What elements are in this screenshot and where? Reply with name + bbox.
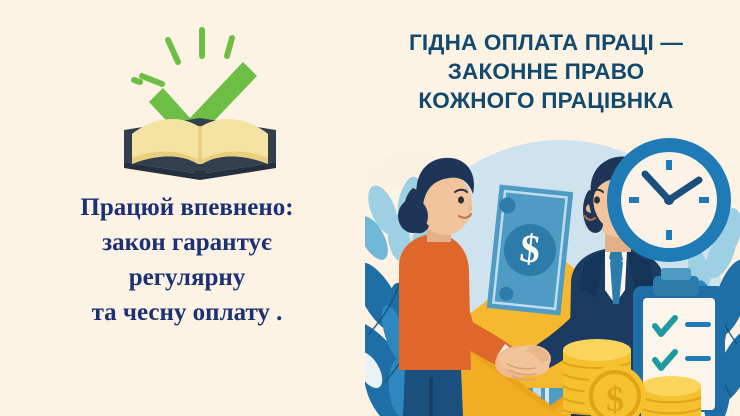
left-panel: Працюй впевнено: закон гарантує регулярн… <box>0 0 360 416</box>
page-title: ГІДНА ОПЛАТА ПРАЦІ — ЗАКОННЕ ПРАВО КОЖНО… <box>360 28 732 115</box>
open-book-with-checkmark-icon <box>110 22 290 187</box>
subtext-line-3: регулярну <box>28 260 346 295</box>
subtext-block: Працюй впевнено: закон гарантує регулярн… <box>28 190 346 330</box>
salary-rights-banner: Працюй впевнено: закон гарантує регулярн… <box>0 0 740 416</box>
subtext-line-2: закон гарантує <box>28 225 346 260</box>
subtext-line-4: та чесну оплату . <box>28 295 346 330</box>
subtext-line-1: Працюй впевнено: <box>28 190 346 225</box>
handshake-salary-illustration: $ <box>365 138 740 416</box>
coin-stack-right <box>641 376 701 416</box>
headline-line-3: КОЖНОГО ПРАЦІВНКА <box>360 86 732 115</box>
dollar-banknote: $ <box>487 184 574 315</box>
coin-dollar-symbol: $ <box>606 379 624 416</box>
headline-line-2: ЗАКОННЕ ПРАВО <box>360 57 732 86</box>
headline-line-1: ГІДНА ОПЛАТА ПРАЦІ — <box>360 28 732 57</box>
checkmark-rays-icon <box>134 30 232 84</box>
wall-clock <box>607 138 731 262</box>
